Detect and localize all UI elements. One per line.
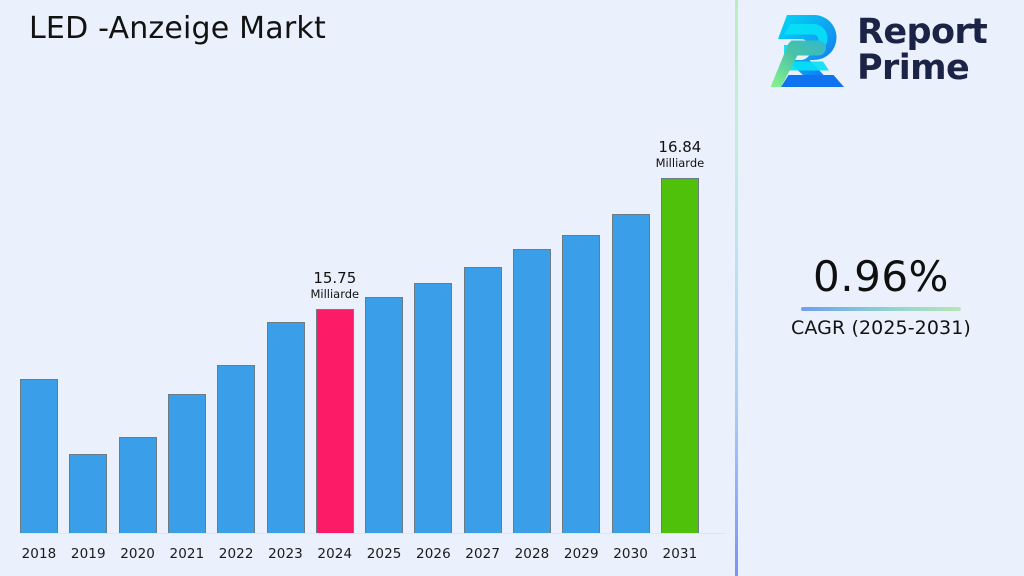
x-axis-tick-2030: 2030 bbox=[606, 546, 656, 562]
bar-2031[interactable] bbox=[661, 178, 699, 533]
brand-name-line2: Prime bbox=[857, 51, 987, 87]
cagr-caption: CAGR (2025-2031) bbox=[738, 317, 1024, 339]
x-axis-tick-2029: 2029 bbox=[556, 546, 606, 562]
screenshot-root: LED -Anzeige Markt 201820192020202120222… bbox=[0, 0, 1024, 576]
bar-2025[interactable] bbox=[365, 297, 403, 533]
brand-name-line1: Report bbox=[857, 15, 987, 51]
bar-2028[interactable] bbox=[513, 249, 551, 533]
x-axis-tick-2023: 2023 bbox=[261, 546, 311, 562]
brand-panel: Report Prime 0.96% CAGR (2025-2031) bbox=[738, 0, 1024, 576]
cagr-value: 0.96% bbox=[738, 252, 1024, 301]
bar-2030[interactable] bbox=[612, 214, 650, 533]
x-axis-tick-2021: 2021 bbox=[162, 546, 212, 562]
chart-panel: LED -Anzeige Markt 201820192020202120222… bbox=[0, 0, 736, 576]
bar-2019[interactable] bbox=[69, 454, 107, 533]
bar-2029[interactable] bbox=[562, 235, 600, 533]
bar-2023[interactable] bbox=[267, 322, 305, 533]
bar-value-number-2031: 16.84 bbox=[635, 139, 725, 156]
x-axis-tick-2028: 2028 bbox=[507, 546, 557, 562]
bar-2026[interactable] bbox=[414, 283, 452, 533]
x-axis-tick-2018: 2018 bbox=[14, 546, 64, 562]
x-axis-tick-2025: 2025 bbox=[359, 546, 409, 562]
bar-chart-plot: 201820192020202120222023202415.75Milliar… bbox=[0, 0, 736, 576]
x-axis-tick-2027: 2027 bbox=[458, 546, 508, 562]
cagr-block: 0.96% CAGR (2025-2031) bbox=[738, 252, 1024, 339]
brand-wordmark: Report Prime bbox=[857, 15, 987, 86]
bar-value-label-2031: 16.84Milliarde bbox=[635, 139, 725, 170]
x-axis-tick-2031: 2031 bbox=[655, 546, 705, 562]
bar-2022[interactable] bbox=[217, 365, 255, 533]
x-axis-tick-2022: 2022 bbox=[211, 546, 261, 562]
x-axis-tick-2026: 2026 bbox=[408, 546, 458, 562]
cagr-divider-rule bbox=[801, 307, 961, 311]
brand-logo: Report Prime bbox=[770, 12, 987, 90]
x-axis-line bbox=[20, 533, 726, 534]
bar-value-unit-2031: Milliarde bbox=[635, 157, 725, 170]
bar-2024[interactable] bbox=[316, 309, 354, 533]
bar-2020[interactable] bbox=[119, 437, 157, 533]
bar-2027[interactable] bbox=[464, 267, 502, 533]
bar-2021[interactable] bbox=[168, 394, 206, 533]
x-axis-tick-2020: 2020 bbox=[113, 546, 163, 562]
bar-value-number-2024: 15.75 bbox=[290, 270, 380, 287]
report-prime-logo-icon bbox=[770, 12, 846, 90]
x-axis-tick-2024: 2024 bbox=[310, 546, 360, 562]
x-axis-tick-2019: 2019 bbox=[63, 546, 113, 562]
bar-2018[interactable] bbox=[20, 379, 58, 533]
